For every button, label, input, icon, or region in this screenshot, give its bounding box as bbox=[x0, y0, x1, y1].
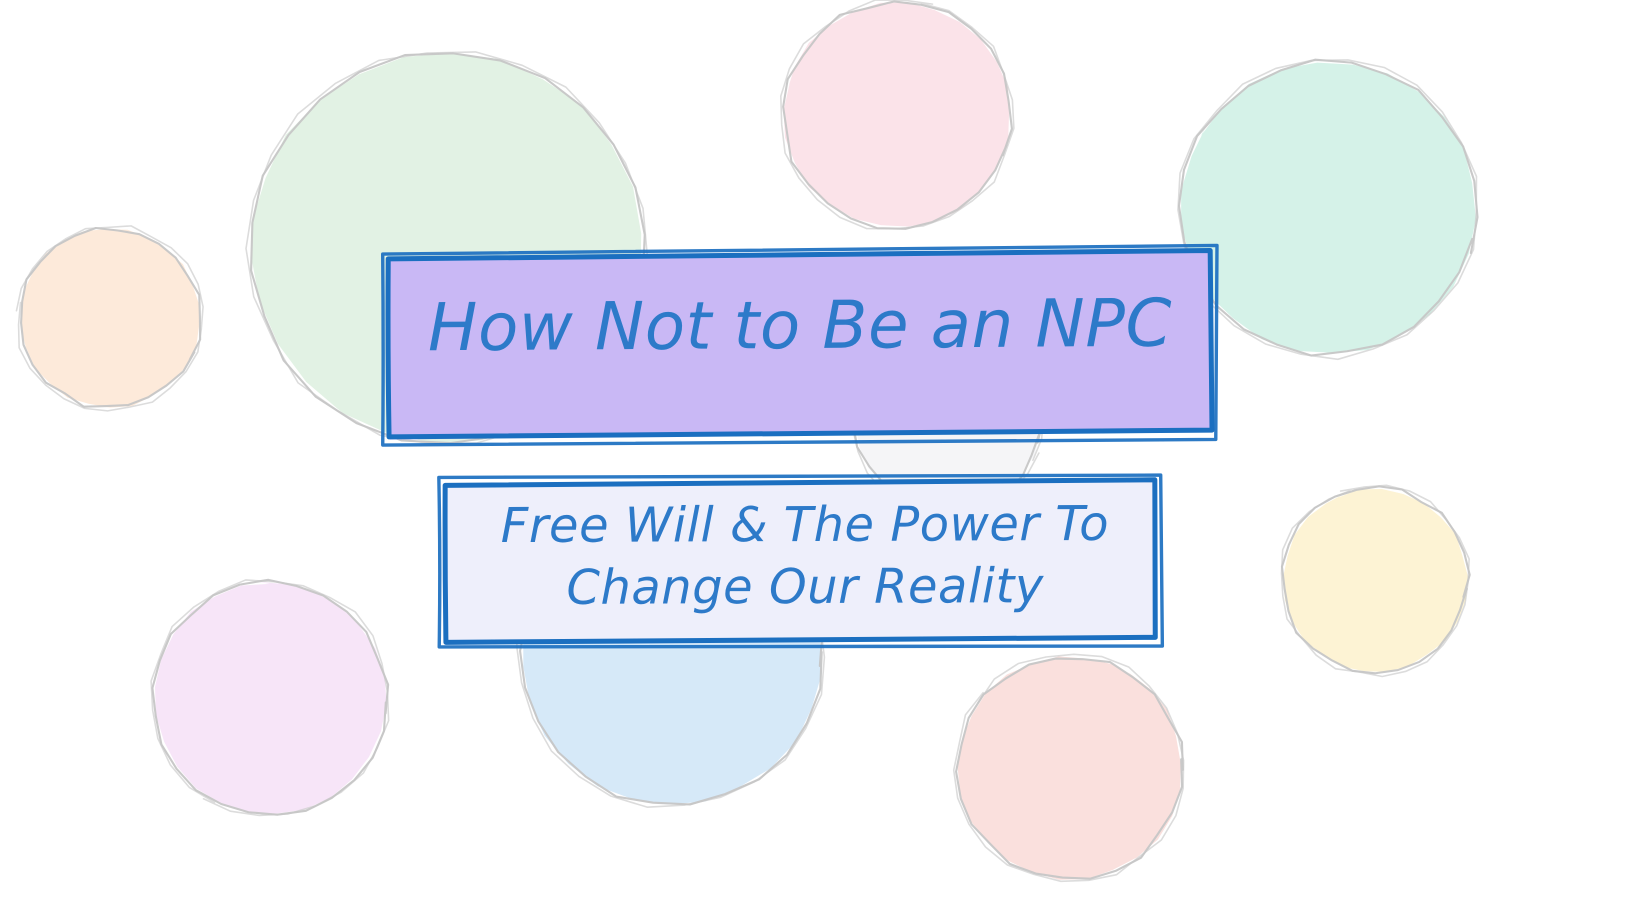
slide-title: How Not to Be an NPC bbox=[400, 288, 1200, 364]
slide-subtitle: Free Will & The Power To Change Our Real… bbox=[455, 493, 1155, 620]
text-boxes-layer bbox=[0, 0, 1638, 913]
slide-canvas: How Not to Be an NPC Free Will & The Pow… bbox=[0, 0, 1638, 913]
